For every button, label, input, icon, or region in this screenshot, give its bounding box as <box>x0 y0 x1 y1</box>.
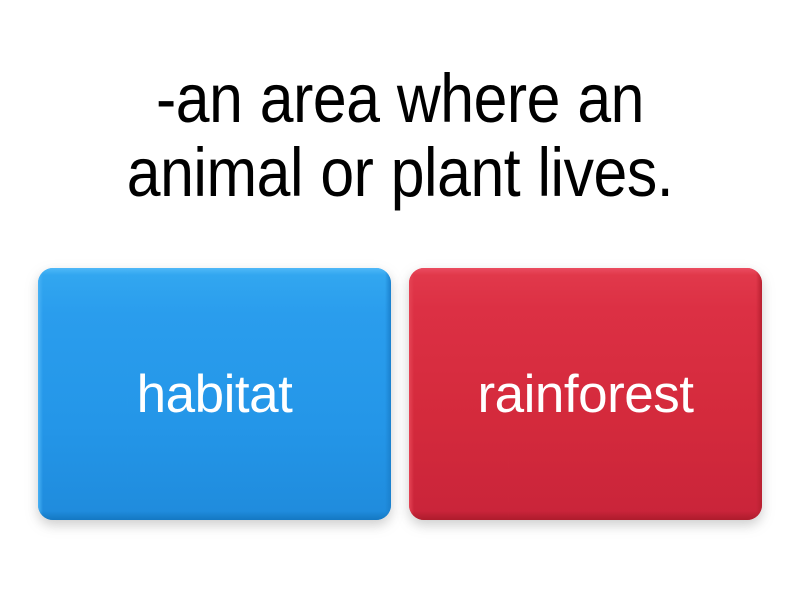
quiz-question-screen: -an area where an animal or plant lives.… <box>0 0 800 600</box>
answer-options-row: habitat rainforest <box>38 268 762 520</box>
tile-bevel-top-highlight <box>38 268 391 275</box>
answer-option-habitat[interactable]: habitat <box>38 268 391 520</box>
tile-bevel-right-shadow <box>756 268 762 520</box>
tile-bevel-bottom-shadow <box>38 511 391 520</box>
answer-option-label: rainforest <box>466 368 706 421</box>
tile-bevel-bottom-shadow <box>409 511 762 520</box>
answer-option-label: habitat <box>125 368 305 421</box>
answer-option-rainforest[interactable]: rainforest <box>409 268 762 520</box>
tile-bevel-top-highlight <box>409 268 762 275</box>
tile-bevel-right-shadow <box>385 268 391 520</box>
tile-bevel-left-highlight <box>409 268 414 520</box>
question-prompt: -an area where an animal or plant lives. <box>48 62 752 210</box>
tile-bevel-left-highlight <box>38 268 43 520</box>
